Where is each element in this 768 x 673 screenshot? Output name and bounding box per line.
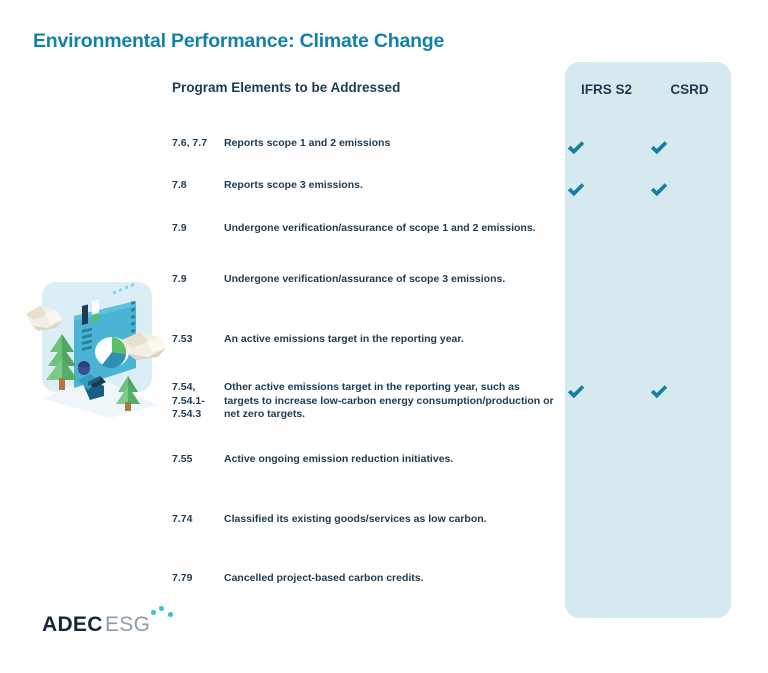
page-title: Environmental Performance: Climate Chang…: [33, 30, 444, 53]
column-header-program-elements: Program Elements to be Addressed: [172, 80, 400, 95]
column-header-ifrs-s2: IFRS S2: [565, 82, 648, 97]
logo-text-esg: ESG: [105, 613, 150, 637]
logo-dot: [151, 610, 156, 615]
check-icon-ifrs-s2: [565, 381, 587, 403]
row-description: Classified its existing goods/services a…: [224, 513, 554, 527]
row-reference: 7.8: [172, 179, 220, 193]
row-reference: 7.9: [172, 273, 220, 287]
logo-dot: [168, 612, 173, 617]
row-description: Cancelled project-based carbon credits.: [224, 572, 554, 586]
row-description: Undergone verification/assurance of scop…: [224, 222, 554, 236]
slide-canvas: Environmental Performance: Climate Chang…: [0, 0, 768, 673]
check-icon-ifrs-s2: [565, 137, 587, 159]
row-description: Reports scope 1 and 2 emissions: [224, 137, 554, 151]
row-description: Other active emissions target in the rep…: [224, 381, 554, 422]
logo-dots-icon: [150, 603, 176, 619]
row-description: Reports scope 3 emissions.: [224, 179, 554, 193]
logo-text-adec: ADEC: [42, 613, 103, 637]
check-icon-csrd: [648, 179, 670, 201]
row-reference: 7.9: [172, 222, 220, 236]
row-reference: 7.53: [172, 333, 220, 347]
check-icon-csrd: [648, 381, 670, 403]
esg-dashboard-illustration: [18, 268, 170, 418]
column-header-csrd: CSRD: [648, 82, 731, 97]
check-icon-csrd: [648, 137, 670, 159]
row-description: Active ongoing emission reduction initia…: [224, 453, 554, 467]
row-reference: 7.79: [172, 572, 220, 586]
row-description: An active emissions target in the report…: [224, 333, 554, 347]
row-reference: 7.54, 7.54.1- 7.54.3: [172, 381, 220, 422]
row-reference: 7.55: [172, 453, 220, 467]
row-reference: 7.6, 7.7: [172, 137, 220, 151]
row-description: Undergone verification/assurance of scop…: [224, 273, 554, 287]
check-icon-ifrs-s2: [565, 179, 587, 201]
row-reference: 7.74: [172, 513, 220, 527]
logo-dot: [159, 606, 164, 611]
